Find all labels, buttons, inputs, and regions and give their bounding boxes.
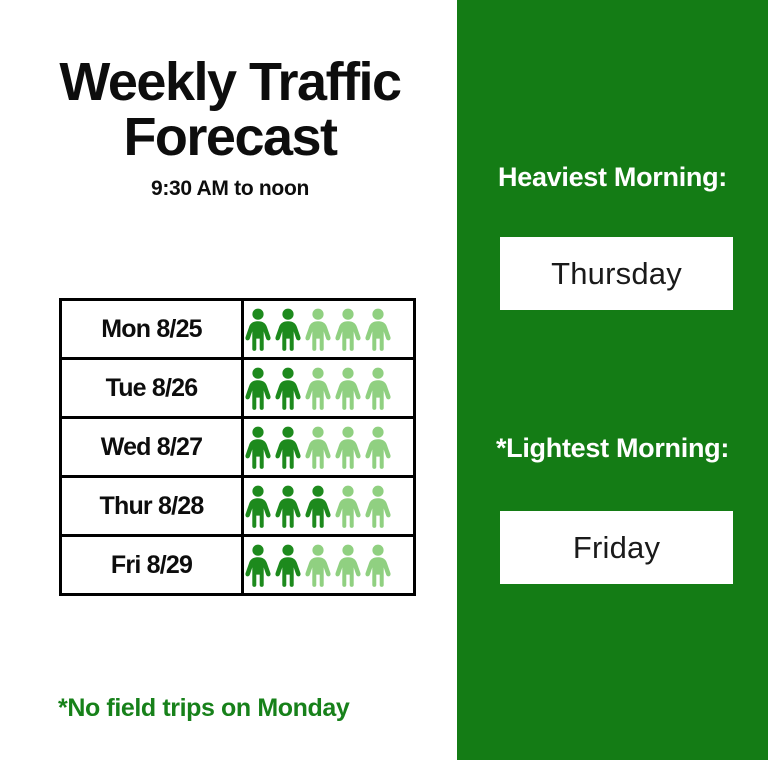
person-icon (274, 484, 302, 528)
person-icon (274, 366, 302, 410)
heaviest-morning-heading: Heaviest Morning: (457, 162, 768, 193)
person-icon (274, 307, 302, 351)
person-icon (244, 366, 272, 410)
person-icon (244, 425, 272, 469)
day-label-cell: Fri 8/29 (61, 536, 243, 595)
person-icon (274, 425, 302, 469)
person-icon (364, 307, 392, 351)
lightest-morning-value: Friday (573, 530, 660, 566)
person-icon (304, 484, 332, 528)
table-row: Tue 8/26 (61, 359, 415, 418)
footnote-no-field-trips: *No field trips on Monday (58, 694, 349, 723)
person-icon (274, 543, 302, 587)
figures-cell (243, 536, 415, 595)
summary-panel: Heaviest Morning: Thursday *Lightest Mor… (457, 0, 768, 760)
page-title: Weekly Traffic Forecast (10, 55, 450, 165)
person-icon (244, 307, 272, 351)
table-row: Fri 8/29 (61, 536, 415, 595)
day-label-cell: Thur 8/28 (61, 477, 243, 536)
person-icon (364, 484, 392, 528)
person-icon (334, 484, 362, 528)
day-label-cell: Tue 8/26 (61, 359, 243, 418)
heaviest-morning-value: Thursday (551, 256, 682, 292)
figures-cell (243, 418, 415, 477)
lightest-morning-heading: *Lightest Morning: (457, 433, 768, 464)
figures-cell (243, 359, 415, 418)
table-row: Mon 8/25 (61, 300, 415, 359)
pictogram-row (244, 484, 413, 528)
day-label-cell: Mon 8/25 (61, 300, 243, 359)
figures-cell (243, 477, 415, 536)
person-icon (334, 307, 362, 351)
table-row: Thur 8/28 (61, 477, 415, 536)
person-icon (334, 543, 362, 587)
forecast-table: Mon 8/25 Tue 8/26 Wed 8/27 Thur 8/28 Fri… (59, 298, 416, 596)
heaviest-morning-box: Thursday (500, 237, 733, 310)
person-icon (304, 366, 332, 410)
title-block: Weekly Traffic Forecast 9:30 AM to noon (10, 55, 450, 201)
person-icon (334, 366, 362, 410)
person-icon (244, 484, 272, 528)
figures-cell (243, 300, 415, 359)
pictogram-row (244, 425, 413, 469)
person-icon (334, 425, 362, 469)
pictogram-row (244, 366, 413, 410)
forecast-table-body: Mon 8/25 Tue 8/26 Wed 8/27 Thur 8/28 Fri… (61, 300, 415, 595)
person-icon (304, 425, 332, 469)
person-icon (364, 543, 392, 587)
person-icon (304, 307, 332, 351)
page-subtitle: 9:30 AM to noon (10, 177, 450, 201)
lightest-morning-box: Friday (500, 511, 733, 584)
person-icon (364, 425, 392, 469)
table-row: Wed 8/27 (61, 418, 415, 477)
pictogram-row (244, 543, 413, 587)
pictogram-row (244, 307, 413, 351)
day-label-cell: Wed 8/27 (61, 418, 243, 477)
person-icon (304, 543, 332, 587)
person-icon (244, 543, 272, 587)
person-icon (364, 366, 392, 410)
